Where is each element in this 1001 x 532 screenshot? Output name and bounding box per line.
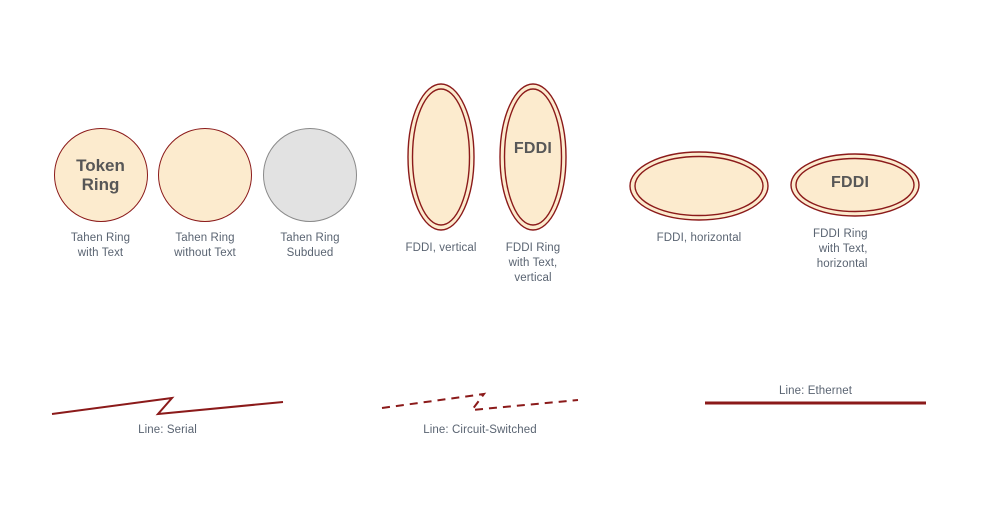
token-ring-without-text-art[interactable]: [158, 128, 252, 222]
shape-fddi-ring-with-text-vertical[interactable]: FDDI FDDI Ring with Text, vertical: [495, 82, 571, 286]
fddi-ring-text-vertical-art[interactable]: FDDI: [498, 82, 568, 232]
shape-caption-token-ring-with-text: Tahen Ring with Text: [71, 231, 130, 261]
fddi-inner-label: FDDI: [831, 174, 869, 192]
token-ring-with-text-art[interactable]: Token Ring: [54, 128, 148, 222]
token-ring-circle-icon[interactable]: [158, 128, 252, 222]
fddi-ring-text-horizontal-art[interactable]: FDDI: [789, 152, 921, 218]
line-ethernet-icon[interactable]: [705, 400, 926, 406]
shape-token-ring-with-text[interactable]: Token Ring Tahen Ring with Text: [48, 128, 153, 261]
shape-fddi-ring-with-text-horizontal[interactable]: FDDI FDDI Ring with Text, horizontal: [789, 152, 921, 272]
shape-token-ring-subdued[interactable]: Tahen Ring Subdued: [262, 128, 358, 261]
line-caption-circuit-switched: Line: Circuit-Switched: [380, 424, 580, 436]
fddi-double-ellipse-vertical-icon[interactable]: [406, 82, 476, 232]
shape-caption-fddi-vertical: FDDI, vertical: [405, 241, 476, 256]
line-circuit-switched-icon[interactable]: [380, 388, 580, 420]
token-ring-subdued-art[interactable]: [263, 128, 357, 222]
shape-fddi-horizontal[interactable]: FDDI, horizontal: [628, 150, 770, 246]
token-ring-subdued-circle-icon[interactable]: [263, 128, 357, 222]
shape-caption-token-ring-without-text: Tahen Ring without Text: [174, 231, 236, 261]
line-caption-ethernet: Line: Ethernet: [705, 385, 926, 397]
line-circuit-switched[interactable]: Line: Circuit-Switched: [380, 388, 580, 436]
fddi-vertical-art[interactable]: [406, 82, 476, 232]
token-ring-inner-label: Token Ring: [76, 156, 125, 194]
line-caption-serial: Line: Serial: [50, 424, 285, 436]
fddi-inner-label: FDDI: [514, 140, 552, 158]
shape-token-ring-without-text[interactable]: Tahen Ring without Text: [155, 128, 255, 261]
line-serial-icon[interactable]: [50, 388, 285, 420]
shape-caption-fddi-ring-with-text-horizontal: FDDI Ring with Text, horizontal: [813, 227, 868, 272]
line-serial[interactable]: Line: Serial: [50, 388, 285, 436]
fddi-double-ellipse-horizontal-icon[interactable]: [628, 150, 770, 222]
token-ring-circle-icon[interactable]: Token Ring: [54, 128, 148, 222]
shape-fddi-vertical[interactable]: FDDI, vertical: [398, 82, 484, 256]
stencil-canvas: Token Ring Tahen Ring with Text Tahen Ri…: [0, 0, 1001, 532]
shape-caption-fddi-ring-with-text-vertical: FDDI Ring with Text, vertical: [506, 241, 561, 286]
fddi-horizontal-art[interactable]: [628, 150, 770, 222]
shape-caption-token-ring-subdued: Tahen Ring Subdued: [280, 231, 339, 261]
shape-caption-fddi-horizontal: FDDI, horizontal: [657, 231, 742, 246]
line-ethernet[interactable]: Line: Ethernet: [705, 385, 926, 406]
